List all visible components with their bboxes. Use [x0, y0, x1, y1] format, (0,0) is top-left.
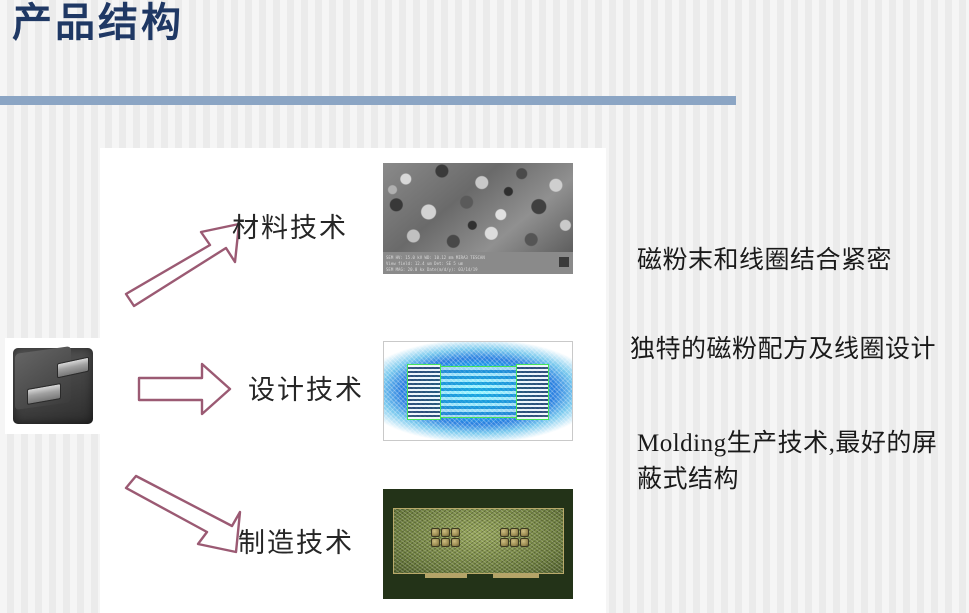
wire-strand [441, 528, 450, 537]
wire-strand [441, 538, 450, 547]
page-title: 产品结构 [12, 0, 184, 48]
cross-section-wire-bundle-left [431, 528, 460, 547]
sem-micrograph-surface [383, 163, 573, 252]
simulation-coil-left [407, 364, 441, 421]
cross-section-lead-right [493, 573, 539, 578]
sem-logo-swatch [559, 257, 569, 267]
wire-strand [510, 538, 519, 547]
molded-power-inductor-photo [5, 338, 101, 434]
title-divider-rule [0, 96, 736, 105]
cross-section-wire-bundle-right [500, 528, 529, 547]
inductor-body-shape [13, 348, 93, 424]
feature-text-1: 磁粉末和线圈结合紧密 [637, 243, 967, 279]
arrow-right-icon [136, 360, 234, 423]
wire-strand [500, 538, 509, 547]
wire-strand [431, 538, 440, 547]
sem-info-line-3: SEM MAG: 20.0 kx Date(m/d/y): 03/14/19 [386, 267, 478, 272]
simulation-field-plot [383, 341, 573, 441]
feature-text-2: 独特的磁粉配方及线圈设计 [630, 332, 969, 368]
simulation-coil-right [516, 364, 550, 421]
arrow-down-right-icon [122, 472, 244, 567]
feature-text-3: Molding生产技术,最好的屏蔽式结构 [637, 426, 957, 499]
simulation-core-region [439, 366, 518, 419]
cross-section-background [383, 489, 573, 599]
cross-section-photo-image [383, 489, 573, 599]
sem-info-line-2: View field: 12.4 um Det: SE 5 um [386, 261, 463, 266]
sem-info-line-1: SEM HV: 15.0 kV WD: 10.12 mm MIRA3 TESCA… [386, 255, 485, 260]
arrow-up-right-icon [122, 218, 244, 313]
magnetic-field-simulation-image [383, 341, 573, 441]
sem-micrograph-image: SEM HV: 15.0 kV WD: 10.12 mm MIRA3 TESCA… [383, 163, 573, 274]
stage-label-material: 材料技术 [232, 206, 348, 245]
wire-strand [520, 528, 529, 537]
wire-strand [510, 528, 519, 537]
wire-strand [451, 528, 460, 537]
wire-strand [520, 538, 529, 547]
cross-section-molded-body [393, 508, 564, 574]
stage-label-design: 设计技术 [248, 368, 364, 407]
sem-info-bar: SEM HV: 15.0 kV WD: 10.12 mm MIRA3 TESCA… [383, 252, 573, 274]
cross-section-lead-left [425, 573, 467, 578]
wire-strand [500, 528, 509, 537]
wire-strand [451, 538, 460, 547]
wire-strand [431, 528, 440, 537]
stage-label-manufacture: 制造技术 [238, 521, 354, 560]
